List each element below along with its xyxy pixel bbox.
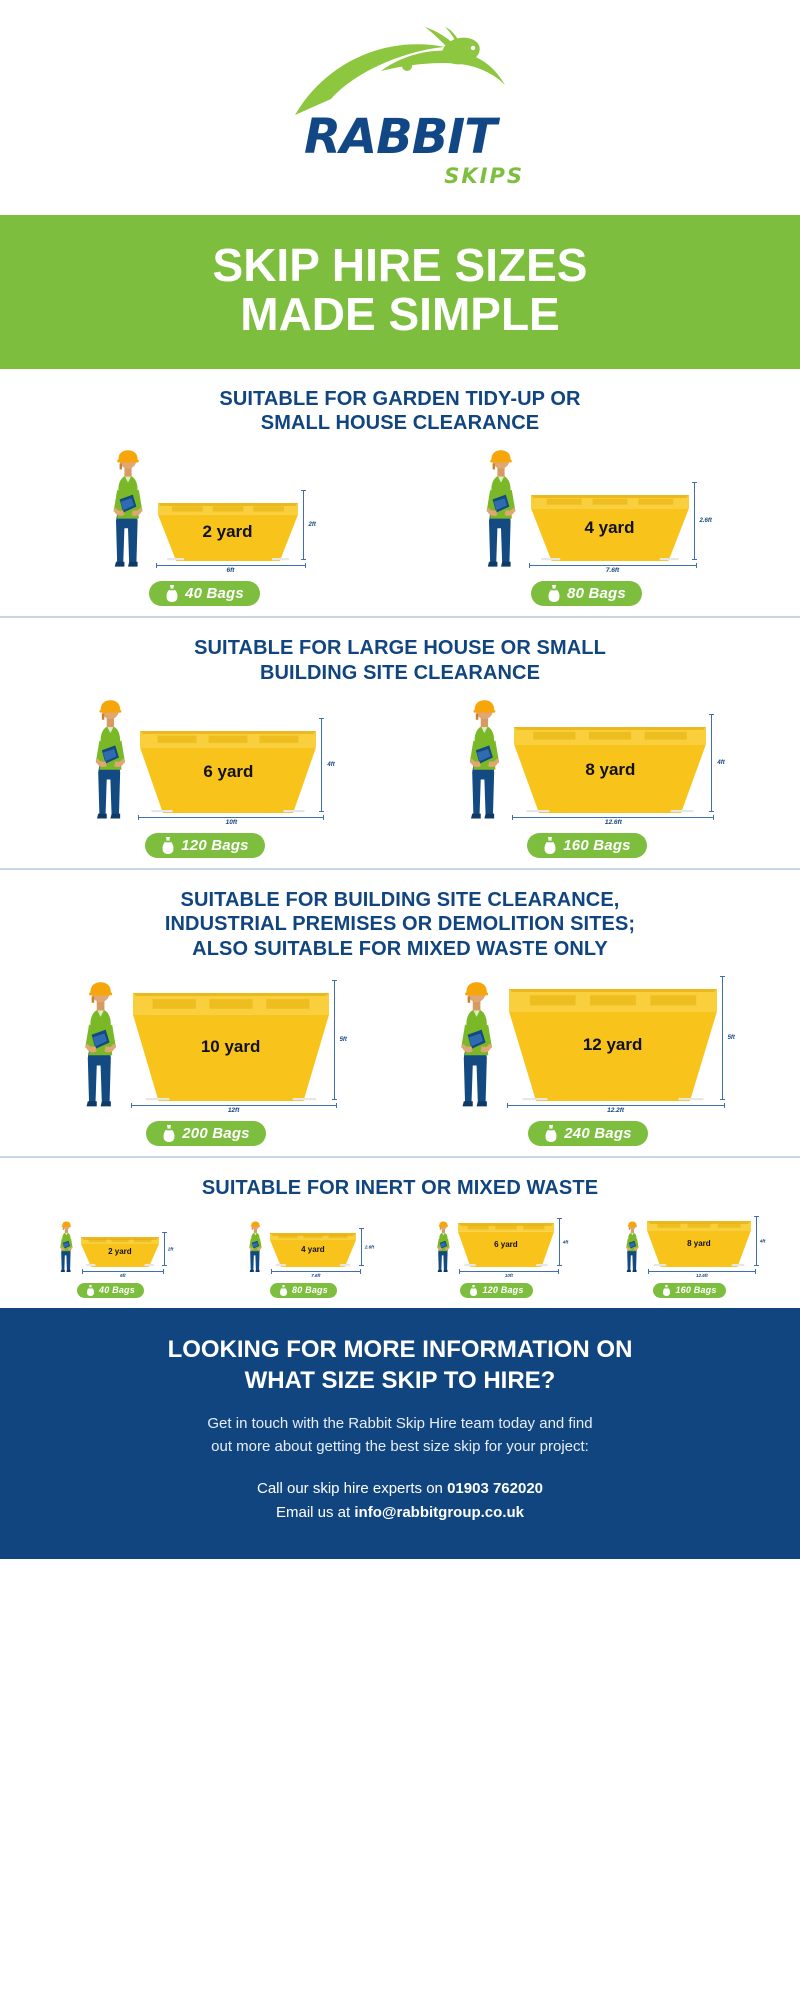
width-dimension-label: 7.6ft [311, 1273, 320, 1278]
skip-stage: 2 yard 2ft 6ft [56, 1221, 165, 1278]
section-title-line: SUITABLE FOR LARGE HOUSE OR SMALL [120, 636, 680, 660]
skip-with-height-dimension: 10 yard 5ft [133, 979, 335, 1101]
footer-heading-line-1: LOOKING FOR MORE INFORMATION ON [40, 1334, 760, 1365]
logo-subtitle: SKIPS [444, 164, 524, 188]
section-title-line: SUITABLE FOR GARDEN TIDY-UP OR [120, 387, 680, 411]
footer-body-line-2: out more about getting the best size ski… [40, 1435, 760, 1458]
width-dimension-label: 6ft [120, 1273, 126, 1278]
worker-figure-icon [75, 981, 126, 1109]
worker-figure-icon [433, 1221, 454, 1273]
footer-phone-number[interactable]: 01903 762020 [447, 1480, 543, 1497]
waste-bag-icon [544, 1125, 558, 1142]
page-title: SKIP HIRE SIZES MADE SIMPLE [10, 241, 790, 339]
height-dimension-label: 2.6ft [700, 518, 712, 524]
height-dimension: 2.6ft [694, 481, 695, 561]
width-dimension: 10ft [138, 817, 324, 826]
skip-size-label: 8 yard [585, 760, 635, 780]
footer-phone-row: Call our skip hire experts on 01903 7620… [40, 1477, 760, 1501]
rabbit-skips-logo: RABBIT SKIPS [270, 27, 530, 188]
skip-unit: 8 yard 4ft 12.6ft 160 Bags [593, 1215, 786, 1298]
worker-figure-icon [56, 1221, 77, 1273]
skip-unit: 4 yard 2.6ft 7.6ft 80 Bags [477, 449, 697, 606]
height-dimension: 2ft [164, 1231, 165, 1267]
skip-stage: 4 yard 2.6ft 7.6ft [245, 1221, 362, 1278]
skip-stage: 6 yard 4ft 10ft [86, 699, 325, 826]
worker-figure [451, 981, 502, 1114]
rabbit-logo-icon [285, 27, 515, 119]
skip-size-label: 2 yard [202, 522, 252, 542]
bags-capacity-badge: 40 Bags [77, 1283, 144, 1298]
skip-stage: 8 yard 4ft 12.6ft [622, 1215, 757, 1278]
sections-container: SUITABLE FOR GARDEN TIDY-UP ORSMALL HOUS… [0, 369, 800, 1308]
worker-figure [477, 449, 525, 574]
worker-figure-icon [477, 449, 525, 569]
skip-section: SUITABLE FOR GARDEN TIDY-UP ORSMALL HOUS… [0, 369, 800, 617]
skip-unit: 12 yard 5ft 12.2ft 240 Bags [451, 975, 724, 1146]
width-dimension-label: 6ft [227, 567, 235, 574]
worker-figure-icon [104, 449, 152, 569]
skip-size-label: 6 yard [203, 762, 253, 782]
footer-phone-prefix: Call our skip hire experts on [257, 1480, 447, 1497]
width-dimension-label: 12ft [228, 1107, 240, 1114]
bags-capacity-badge: 240 Bags [528, 1121, 647, 1146]
width-dimension: 12.6ft [512, 817, 714, 826]
worker-figure-icon [451, 981, 502, 1109]
width-dimension: 12.2ft [507, 1105, 725, 1114]
hero-line-2: MADE SIMPLE [10, 290, 790, 339]
section-title-line: SUITABLE FOR INERT OR MIXED WASTE [120, 1176, 680, 1200]
bags-capacity-label: 40 Bags [185, 585, 244, 602]
bags-capacity-label: 40 Bags [99, 1285, 135, 1295]
footer-contact: Call our skip hire experts on 01903 7620… [40, 1477, 760, 1525]
skip-unit: 2 yard 2ft 6ft 40 Bags [104, 449, 306, 606]
skip-unit: 10 yard 5ft 12ft 200 Bags [75, 979, 336, 1146]
section-title: SUITABLE FOR INERT OR MIXED WASTE [120, 1176, 680, 1200]
waste-bag-icon [543, 837, 557, 854]
waste-bag-icon [469, 1285, 478, 1296]
width-dimension-label: 7.6ft [606, 567, 619, 574]
waste-bag-icon [86, 1285, 95, 1296]
skip-stage: 4 yard 2.6ft 7.6ft [477, 449, 697, 574]
width-dimension-label: 10ft [226, 819, 238, 826]
skip-size-label: 4 yard [301, 1245, 325, 1254]
skip-row: 2 yard 2ft 6ft 40 Bags [0, 1215, 800, 1298]
footer-email-address[interactable]: info@rabbitgroup.co.uk [354, 1504, 524, 1521]
skip-with-height-dimension: 6 yard 4ft [458, 1217, 560, 1267]
skip-size-label: 2 yard [108, 1247, 132, 1256]
skip-unit: 8 yard 4ft 12.6ft 160 Bags [460, 699, 715, 858]
bags-capacity-badge: 160 Bags [527, 833, 646, 858]
height-dimension-label: 4ft [327, 762, 334, 768]
bags-capacity-badge: 80 Bags [270, 1283, 337, 1298]
width-dimension: 7.6ft [271, 1271, 361, 1278]
skip-with-height-dimension: 6 yard 4ft [140, 717, 322, 813]
skip-stage: 8 yard 4ft 12.6ft [460, 699, 715, 826]
width-dimension: 12.6ft [648, 1271, 756, 1278]
section-title: SUITABLE FOR BUILDING SITE CLEARANCE,IND… [120, 888, 680, 961]
footer-email-prefix: Email us at [276, 1504, 354, 1521]
height-dimension: 2.6ft [361, 1227, 362, 1267]
skip-block: 6 yard 4ft 10ft [458, 1217, 560, 1278]
width-dimension: 10ft [459, 1271, 559, 1278]
skip-with-height-dimension: 2 yard 2ft [158, 489, 304, 561]
height-dimension-label: 2.6ft [365, 1244, 374, 1249]
height-dimension: 4ft [321, 717, 322, 813]
worker-figure [460, 699, 509, 826]
section-title: SUITABLE FOR LARGE HOUSE OR SMALLBUILDIN… [120, 636, 680, 685]
skip-section: SUITABLE FOR BUILDING SITE CLEARANCE,IND… [0, 868, 800, 1156]
skip-size-label: 4 yard [584, 518, 634, 538]
worker-figure [56, 1221, 77, 1278]
height-dimension-label: 4ft [717, 760, 724, 766]
bags-capacity-label: 120 Bags [482, 1285, 523, 1295]
width-dimension-label: 12.2ft [607, 1107, 624, 1114]
skip-unit: 2 yard 2ft 6ft 40 Bags [14, 1221, 207, 1298]
bags-capacity-label: 80 Bags [567, 585, 626, 602]
height-dimension-label: 4ft [563, 1239, 569, 1244]
waste-bag-icon [547, 585, 561, 602]
height-dimension: 4ft [756, 1215, 757, 1267]
skip-size-label: 6 yard [494, 1240, 518, 1249]
skip-row: 6 yard 4ft 10ft 120 Bags [0, 699, 800, 858]
skip-unit: 4 yard 2.6ft 7.6ft 80 Bags [207, 1221, 400, 1298]
skip-with-height-dimension: 4 yard 2.6ft [531, 481, 695, 561]
width-dimension-label: 10ft [505, 1273, 513, 1278]
worker-figure [622, 1221, 643, 1278]
worker-figure [245, 1221, 266, 1278]
worker-figure-icon [460, 699, 509, 821]
height-dimension-label: 5ft [728, 1035, 735, 1041]
width-dimension: 6ft [156, 565, 306, 574]
skip-block: 10 yard 5ft 12ft [131, 979, 337, 1114]
waste-bag-icon [162, 1125, 176, 1142]
worker-figure [86, 699, 135, 826]
height-dimension: 4ft [711, 713, 712, 813]
section-title-line: SMALL HOUSE CLEARANCE [120, 411, 680, 435]
skip-unit: 6 yard 4ft 10ft 120 Bags [400, 1217, 593, 1298]
worker-figure [104, 449, 152, 574]
height-dimension: 5ft [334, 979, 335, 1101]
height-dimension: 5ft [722, 975, 723, 1101]
skip-section: SUITABLE FOR INERT OR MIXED WASTE [0, 1156, 800, 1307]
skip-row: 10 yard 5ft 12ft 200 Bags [0, 975, 800, 1146]
footer-heading: LOOKING FOR MORE INFORMATION ON WHAT SIZ… [40, 1334, 760, 1396]
waste-bag-icon [662, 1285, 671, 1296]
skip-block: 8 yard 4ft 12.6ft [512, 713, 714, 826]
bags-capacity-label: 160 Bags [563, 837, 630, 854]
section-title-line: BUILDING SITE CLEARANCE [120, 661, 680, 685]
logo-wordmark: RABBIT [304, 113, 496, 161]
worker-figure-icon [622, 1221, 643, 1273]
skip-row: 2 yard 2ft 6ft 40 Bags [0, 449, 800, 606]
width-dimension-label: 12.6ft [696, 1273, 708, 1278]
skip-block: 6 yard 4ft 10ft [138, 717, 324, 826]
height-dimension: 4ft [559, 1217, 560, 1267]
width-dimension-label: 12.6ft [605, 819, 622, 826]
skip-with-height-dimension: 2 yard 2ft [81, 1231, 165, 1267]
height-dimension-label: 4ft [760, 1238, 766, 1243]
skip-block: 4 yard 2.6ft 7.6ft [529, 481, 697, 574]
footer-body-line-1: Get in touch with the Rabbit Skip Hire t… [40, 1412, 760, 1435]
skip-block: 4 yard 2.6ft 7.6ft [270, 1227, 362, 1278]
skip-stage: 2 yard 2ft 6ft [104, 449, 306, 574]
skip-block: 12 yard 5ft 12.2ft [507, 975, 725, 1114]
width-dimension: 6ft [82, 1271, 164, 1278]
width-dimension: 7.6ft [529, 565, 697, 574]
bags-capacity-badge: 40 Bags [149, 581, 260, 606]
skip-stage: 12 yard 5ft 12.2ft [451, 975, 724, 1114]
bags-capacity-label: 200 Bags [182, 1125, 249, 1142]
height-dimension-label: 5ft [340, 1037, 347, 1043]
width-dimension: 12ft [131, 1105, 337, 1114]
bags-capacity-label: 240 Bags [564, 1125, 631, 1142]
waste-bag-icon [279, 1285, 288, 1296]
hero-line-1: SKIP HIRE SIZES [10, 241, 790, 290]
skip-with-height-dimension: 8 yard 4ft [647, 1215, 757, 1267]
skip-stage: 10 yard 5ft 12ft [75, 979, 336, 1114]
bags-capacity-badge: 160 Bags [653, 1283, 725, 1298]
footer-email-row: Email us at info@rabbitgroup.co.uk [40, 1501, 760, 1525]
section-title-line: SUITABLE FOR BUILDING SITE CLEARANCE, [120, 888, 680, 912]
height-dimension-label: 2ft [168, 1246, 174, 1251]
section-title: SUITABLE FOR GARDEN TIDY-UP ORSMALL HOUS… [120, 387, 680, 436]
skip-with-height-dimension: 4 yard 2.6ft [270, 1227, 362, 1267]
infographic-page: RABBIT SKIPS SKIP HIRE SIZES MADE SIMPLE… [0, 0, 800, 2000]
worker-figure-icon [245, 1221, 266, 1273]
footer-cta: LOOKING FOR MORE INFORMATION ON WHAT SIZ… [0, 1308, 800, 1559]
bags-capacity-badge: 200 Bags [146, 1121, 265, 1146]
footer-heading-line-2: WHAT SIZE SKIP TO HIRE? [40, 1365, 760, 1396]
hero-banner: SKIP HIRE SIZES MADE SIMPLE [0, 215, 800, 369]
skip-with-height-dimension: 8 yard 4ft [514, 713, 712, 813]
worker-figure [75, 981, 126, 1114]
skip-size-label: 10 yard [201, 1037, 261, 1057]
waste-bag-icon [161, 837, 175, 854]
skip-stage: 6 yard 4ft 10ft [433, 1217, 560, 1278]
section-title-line: ALSO SUITABLE FOR MIXED WASTE ONLY [120, 937, 680, 961]
skip-with-height-dimension: 12 yard 5ft [509, 975, 723, 1101]
skip-size-label: 12 yard [583, 1035, 643, 1055]
bags-capacity-badge: 120 Bags [145, 833, 264, 858]
bags-capacity-badge: 120 Bags [460, 1283, 532, 1298]
skip-unit: 6 yard 4ft 10ft 120 Bags [86, 699, 325, 858]
bags-capacity-label: 80 Bags [292, 1285, 328, 1295]
skip-section: SUITABLE FOR LARGE HOUSE OR SMALLBUILDIN… [0, 616, 800, 868]
height-dimension-label: 2ft [309, 522, 316, 528]
skip-block: 2 yard 2ft 6ft [156, 489, 306, 574]
bags-capacity-label: 160 Bags [675, 1285, 716, 1295]
brand-header: RABBIT SKIPS [0, 0, 800, 215]
footer-body: Get in touch with the Rabbit Skip Hire t… [40, 1412, 760, 1459]
height-dimension: 2ft [303, 489, 304, 561]
section-title-line: INDUSTRIAL PREMISES OR DEMOLITION SITES; [120, 912, 680, 936]
skip-block: 8 yard 4ft 12.6ft [647, 1215, 757, 1278]
skip-block: 2 yard 2ft 6ft [81, 1231, 165, 1278]
waste-bag-icon [165, 585, 179, 602]
worker-figure [433, 1221, 454, 1278]
worker-figure-icon [86, 699, 135, 821]
bags-capacity-badge: 80 Bags [531, 581, 642, 606]
bags-capacity-label: 120 Bags [181, 837, 248, 854]
skip-size-label: 8 yard [687, 1239, 711, 1248]
